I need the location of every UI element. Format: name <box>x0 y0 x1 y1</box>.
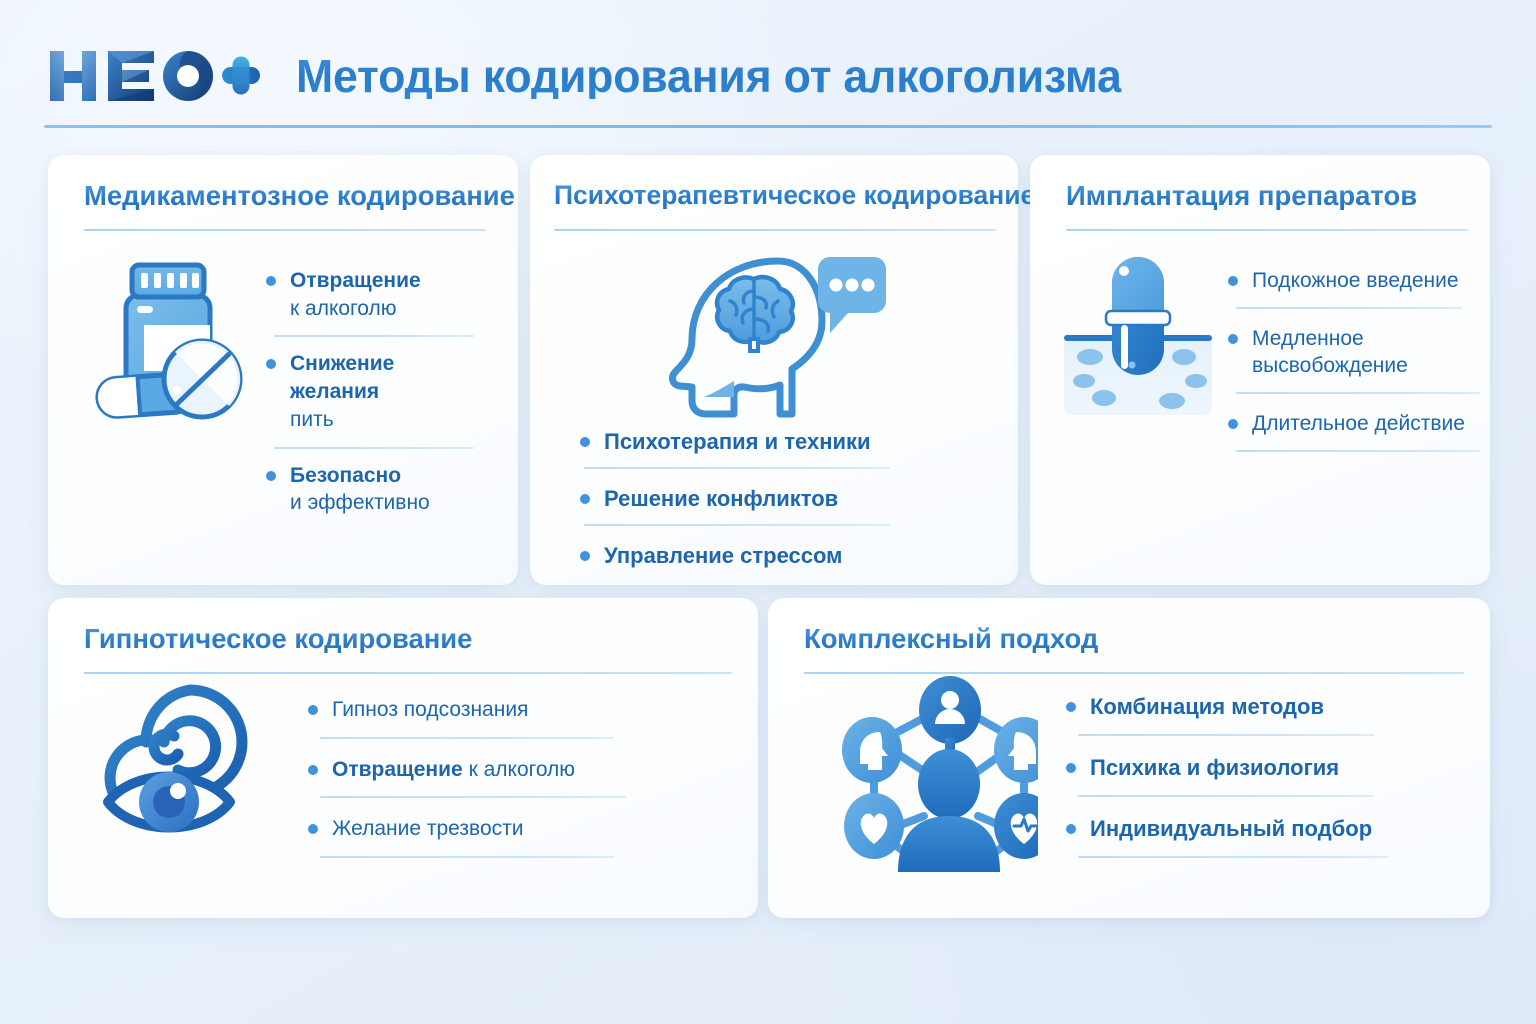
card-kompleksnyy: Комплексный подход <box>768 598 1490 918</box>
bullet-text-light: пить <box>290 408 334 431</box>
bullet-text: Желание трезвости <box>332 815 636 843</box>
card-medikamentoznoe: Медикаментозное кодирование <box>48 155 518 585</box>
header-divider <box>44 125 1492 128</box>
card-title-divider <box>554 229 996 231</box>
bullet-divider <box>320 737 614 739</box>
bullet-divider <box>1078 734 1374 736</box>
bullet-divider <box>584 467 890 469</box>
list-item: Психотерапия и техники <box>578 427 978 456</box>
list-item: Управление стрессом <box>578 541 978 570</box>
bullet-list-medikamentoznoe: Отвращение к алкоголю Снижение желания п… <box>264 267 482 517</box>
list-item: Безопасно и эффективно <box>264 462 482 517</box>
people-network-icon <box>828 676 1038 876</box>
bullet-dot-icon <box>308 705 318 715</box>
list-item: Снижение желания пить <box>264 350 482 433</box>
list-item: Отвращение к алкоголю <box>264 267 482 322</box>
page-title: Методы кодирования от алкоголизма <box>296 53 1122 99</box>
list-item: Психика и физиология <box>1064 753 1444 782</box>
card-title-divider <box>84 229 486 231</box>
bullet-text-strong: Индивидуальный подбор <box>1090 816 1372 841</box>
bullet-dot-icon <box>1228 419 1238 429</box>
card-title-medikamentoznoe: Медикаментозное кодирование <box>84 181 515 210</box>
bullet-divider <box>274 335 474 337</box>
neo-plus-logo <box>44 45 262 107</box>
card-title-divider <box>1066 229 1468 231</box>
list-item: Желание трезвости <box>306 815 636 843</box>
bullet-text-light: и эффективно <box>290 491 430 514</box>
bullet-divider <box>1236 307 1462 309</box>
bullet-text: Гипноз подсознания <box>332 696 636 724</box>
bullet-dot-icon <box>1228 334 1238 344</box>
card-title-divider <box>804 672 1464 674</box>
card-gipnoticheskoe: Гипнотическое кодирование <box>48 598 758 918</box>
bullet-list-implantaciya: Подкожное введение Медленное высвобожден… <box>1226 267 1476 452</box>
bullet-text: Безопасно и эффективно <box>290 462 482 517</box>
bullet-dot-icon <box>308 765 318 775</box>
bullet-dot-icon <box>266 276 276 286</box>
card-title-gipnoticheskoe: Гипнотическое кодирование <box>84 624 472 653</box>
bullet-dot-icon <box>266 471 276 481</box>
bullet-dot-icon <box>308 824 318 834</box>
list-item: Медленное высвобождение <box>1226 325 1476 380</box>
bullet-list-kompleksnyy: Комбинация методов Психика и физиология … <box>1064 692 1444 858</box>
bullet-text: Отвращение к алкоголю <box>332 756 636 784</box>
list-item: Решение конфликтов <box>578 484 978 513</box>
bullet-text: Психотерапия и техники <box>604 427 978 456</box>
card-psihoterapevticheskoe: Психотерапевтическое кодирование <box>530 155 1018 585</box>
page-header: Методы кодирования от алкоголизма <box>44 30 1492 122</box>
hypnosis-eye-icon <box>94 682 264 842</box>
bullet-text-light: Желание трезвости <box>332 817 523 840</box>
bullet-text: Отвращение к алкоголю <box>290 267 482 322</box>
bullet-text-strong: Комбинация методов <box>1090 694 1324 719</box>
bullet-divider <box>584 524 890 526</box>
list-item: Подкожное введение <box>1226 267 1476 295</box>
bullet-text-strong: Безопасно <box>290 464 401 487</box>
bullet-dot-icon <box>266 359 276 369</box>
card-implantaciya: Имплантация препаратов <box>1030 155 1490 585</box>
bullet-divider <box>320 796 626 798</box>
bullet-text: Снижение желания пить <box>290 350 482 433</box>
bullet-text: Психика и физиология <box>1090 753 1444 782</box>
implant-capsule-icon <box>1058 253 1218 423</box>
bullet-text: Управление стрессом <box>604 541 978 570</box>
bullet-dot-icon <box>580 437 590 447</box>
bullet-dot-icon <box>1066 702 1076 712</box>
bullet-dot-icon <box>580 494 590 504</box>
bullet-dot-icon <box>1066 824 1076 834</box>
bullet-text-light: к алкоголю <box>290 297 396 320</box>
bullet-text-strong: Отвращение <box>290 269 421 292</box>
bullet-text: Подкожное введение <box>1252 267 1476 295</box>
list-item: Индивидуальный подбор <box>1064 814 1444 843</box>
bullet-text: Решение конфликтов <box>604 484 978 513</box>
bullet-text-light: Подкожное введение <box>1252 269 1459 292</box>
list-item: Гипноз подсознания <box>306 696 636 724</box>
card-title-divider <box>84 672 732 674</box>
bullet-text-light: к алкоголю <box>469 758 575 781</box>
list-item: Длительное действие <box>1226 410 1476 438</box>
bullet-text-strong: Снижение желания <box>290 352 394 403</box>
bullet-dot-icon <box>1066 763 1076 773</box>
bullet-dot-icon <box>1228 276 1238 286</box>
list-item: Комбинация методов <box>1064 692 1444 721</box>
bullet-text: Индивидуальный подбор <box>1090 814 1444 843</box>
bullet-divider <box>1078 856 1388 858</box>
bullet-text-strong: Отвращение <box>332 758 463 781</box>
bullet-text-strong: Психотерапия и техники <box>604 429 871 454</box>
card-title-implantaciya: Имплантация препаратов <box>1066 181 1417 210</box>
bullet-text: Длительное действие <box>1252 410 1476 438</box>
list-item: Отвращение к алкоголю <box>306 756 636 784</box>
bullet-divider <box>320 856 614 858</box>
bullet-divider <box>1236 450 1480 452</box>
bullet-text-light: Гипноз подсознания <box>332 698 528 721</box>
bullet-text-light: Длительное действие <box>1252 412 1465 435</box>
bullet-text-strong: Психика и физиология <box>1090 755 1339 780</box>
bullet-list-gipnoticheskoe: Гипноз подсознания Отвращение к алкоголю… <box>306 696 636 858</box>
card-title-kompleksnyy: Комплексный подход <box>804 624 1098 653</box>
bullet-dot-icon <box>580 551 590 561</box>
bullet-text-light: Медленное высвобождение <box>1252 327 1408 378</box>
head-brain-speech-icon <box>658 249 888 419</box>
bullet-text: Комбинация методов <box>1090 692 1444 721</box>
pill-bottle-icon <box>84 257 252 425</box>
bullet-divider <box>1236 392 1480 394</box>
bullet-divider <box>274 447 474 449</box>
bullet-text-strong: Решение конфликтов <box>604 486 838 511</box>
bullet-text: Медленное высвобождение <box>1252 325 1452 380</box>
bullet-list-psihoterapevticheskoe: Психотерапия и техники Решение конфликто… <box>578 427 978 570</box>
card-title-psihoterapevticheskoe: Психотерапевтическое кодирование <box>554 181 1035 209</box>
bullet-divider <box>1078 795 1374 797</box>
bullet-text-strong: Управление стрессом <box>604 543 842 568</box>
